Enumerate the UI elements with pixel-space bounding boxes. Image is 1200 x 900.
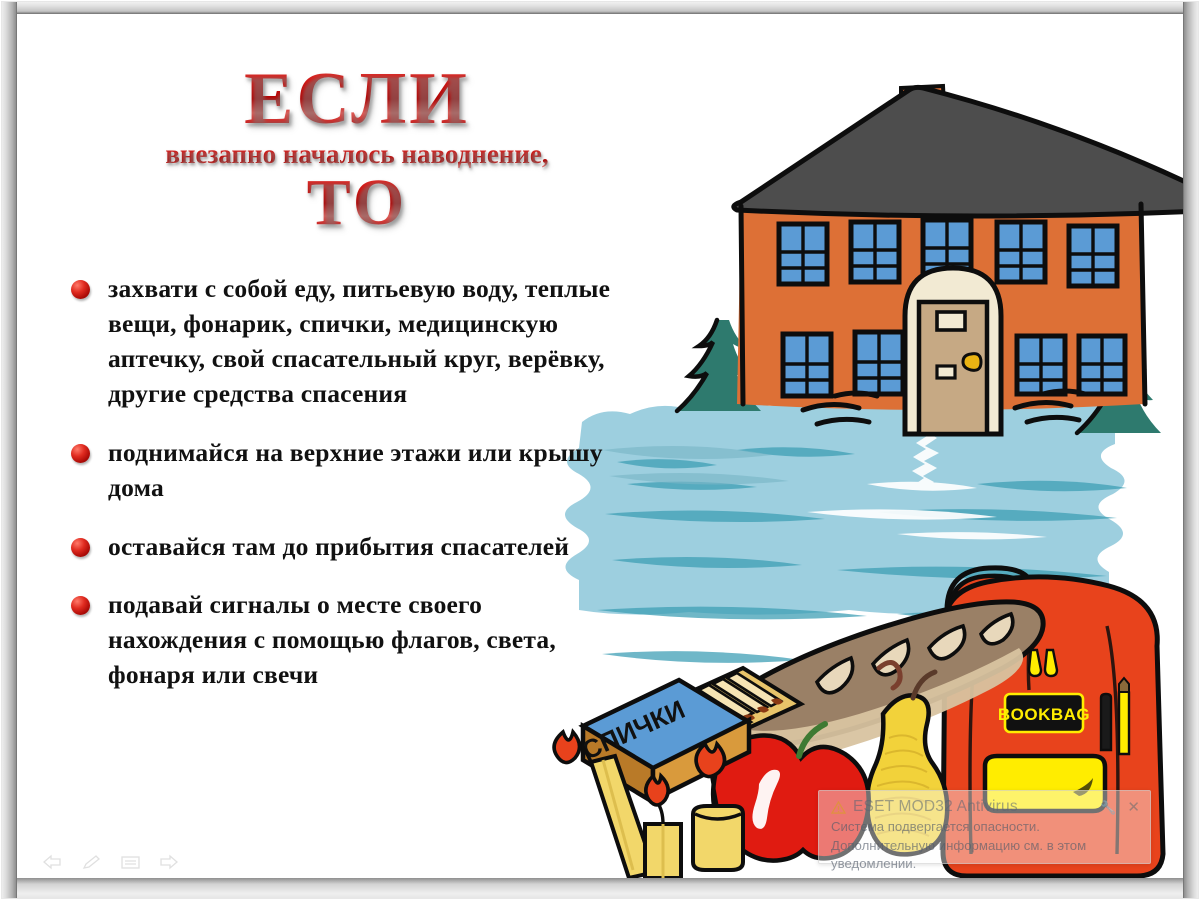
window-bevel-left <box>0 0 17 900</box>
slideshow-toolbar <box>41 853 180 872</box>
house-windows-lower <box>783 332 1125 396</box>
water-waves <box>597 447 1127 663</box>
next-slide-icon[interactable] <box>158 853 180 872</box>
close-icon[interactable]: ✕ <box>1127 800 1140 815</box>
bullet-dot-icon <box>71 596 90 615</box>
bread-slashes <box>817 614 1013 693</box>
slide-title-block: ЕСЛИ внезапно началось наводнение, ТО <box>77 64 637 235</box>
window-bevel-bottom <box>0 878 1200 900</box>
candle-short <box>693 744 743 870</box>
list-item: захвати с собой еду, питьевую воду, тепл… <box>55 272 615 412</box>
bullet-dot-icon <box>71 538 90 557</box>
house-waterline-strokes <box>803 391 1085 424</box>
title-line-3: ТО <box>77 172 637 235</box>
pen-icon[interactable] <box>80 853 102 872</box>
water-reflection <box>807 432 1047 539</box>
slide-canvas: BOOKBAG <box>17 14 1183 878</box>
wrench-icon[interactable]: 🔧 <box>1100 801 1116 814</box>
bookbag-badge: BOOKBAG <box>998 694 1090 732</box>
bullet-dot-icon <box>71 444 90 463</box>
window-bevel-top <box>0 0 1200 14</box>
list-item-text: подавай сигналы о месте своего нахождени… <box>108 588 615 693</box>
tree-left <box>677 320 761 411</box>
house-group <box>734 86 1183 434</box>
water-shape <box>565 397 1125 614</box>
window-bevel-right <box>1183 0 1200 900</box>
list-item-text: оставайся там до прибытия спасателей <box>108 530 569 565</box>
bread-loaf <box>725 602 1043 766</box>
list-item: поднимайся на верхние этажи или крышу до… <box>55 436 615 506</box>
list-item: оставайся там до прибытия спасателей <box>55 530 615 565</box>
notification-title: ESET MOD32 Antivirus <box>853 798 1018 816</box>
previous-slide-icon[interactable] <box>41 853 63 872</box>
backpack-pens <box>1101 678 1129 754</box>
eset-notification-toast[interactable]: ESET MOD32 Antivirus 🔧 ✕ Система подверг… <box>818 790 1151 864</box>
candle-tall <box>554 732 655 878</box>
title-line-1: ЕСЛИ <box>77 64 637 134</box>
notification-body: Система подвергается опасности. Дополнит… <box>831 818 1140 874</box>
backpack-zipper <box>1029 650 1057 676</box>
warning-triangle-icon <box>831 801 846 814</box>
list-item-text: захвати с собой еду, питьевую воду, тепл… <box>108 272 615 412</box>
presentation-window: BOOKBAG <box>0 0 1200 900</box>
house-door <box>905 268 1001 434</box>
advice-list: захвати с собой еду, питьевую воду, тепл… <box>55 272 615 717</box>
floodwater-group <box>565 397 1127 662</box>
candle-mid <box>645 776 681 878</box>
svg-text:BOOKBAG: BOOKBAG <box>998 705 1090 724</box>
list-item: подавай сигналы о месте своего нахождени… <box>55 588 615 693</box>
house-windows-upper <box>779 220 1117 286</box>
water-shadow-streaks <box>602 446 789 485</box>
tree-right <box>1077 342 1161 433</box>
menu-icon[interactable] <box>119 853 141 872</box>
bullet-dot-icon <box>71 280 90 299</box>
list-item-text: поднимайся на верхние этажи или крышу до… <box>108 436 615 506</box>
